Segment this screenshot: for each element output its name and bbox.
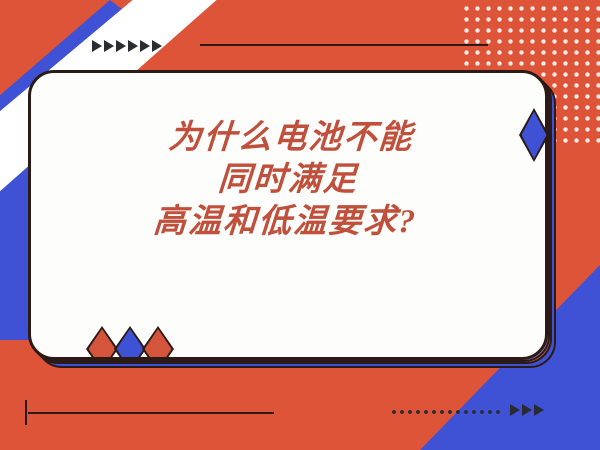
bottom-dotted-line	[390, 408, 502, 416]
top-divider-line	[200, 44, 488, 46]
bottom-arrow-row	[510, 404, 544, 416]
plus-tick-mark	[25, 400, 27, 425]
play-triangle-icon	[140, 40, 150, 52]
play-triangle-icon	[522, 404, 532, 416]
top-arrow-row	[92, 40, 162, 52]
diamond-blue-center	[114, 326, 146, 360]
play-triangle-icon	[92, 40, 102, 52]
headline-line-1: 为什么电池不能	[32, 117, 548, 159]
headline-line-2: 同时满足	[30, 159, 547, 201]
play-triangle-icon	[534, 404, 544, 416]
page-title: 为什么电池不能 同时满足 高温和低温要求?	[28, 117, 548, 244]
play-triangle-icon	[104, 40, 114, 52]
content-card: 为什么电池不能 同时满足 高温和低温要求?	[28, 70, 548, 360]
play-triangle-icon	[152, 40, 162, 52]
bottom-divider-line	[28, 412, 274, 414]
diamond-red-left	[86, 326, 118, 360]
diamond-red-right	[142, 326, 174, 360]
play-triangle-icon	[116, 40, 126, 52]
headline-line-3: 高温和低温要求?	[28, 201, 544, 243]
play-triangle-icon	[510, 404, 520, 416]
poster-canvas: 为什么电池不能 同时满足 高温和低温要求?	[0, 0, 600, 450]
play-triangle-icon	[128, 40, 138, 52]
